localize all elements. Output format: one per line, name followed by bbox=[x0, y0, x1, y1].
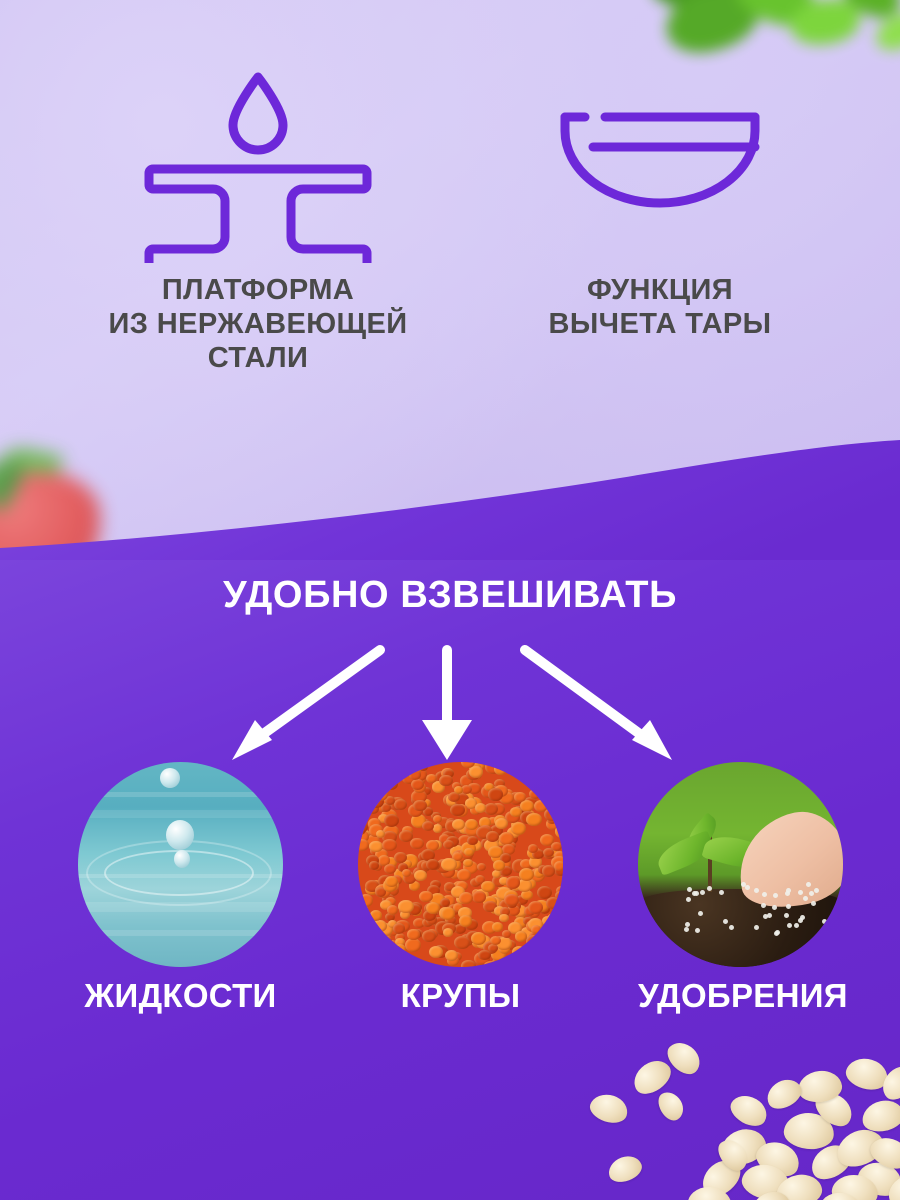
arrow-left-line bbox=[255, 650, 380, 740]
category-label-liquids: ЖИДКОСТИ bbox=[78, 977, 283, 1015]
page-headline: УДОБНО ВЗВЕШИВАТЬ bbox=[0, 574, 900, 617]
feature-stainless-platform: ПЛАТФОРМА ИЗ НЕРЖАВЕЮЩЕЙ СТАЛИ bbox=[48, 58, 468, 376]
feature-tare-function: ФУНКЦИЯ ВЫЧЕТА ТАРЫ bbox=[470, 58, 850, 342]
oat-flakes-decoration bbox=[570, 1035, 900, 1200]
category-circles-row: ЖИДКОСТИ КРУПЫ УДОБРЕНИЯ bbox=[0, 762, 900, 972]
arrow-center-head bbox=[422, 720, 472, 760]
arrows-group bbox=[0, 628, 900, 778]
water-drop-splash-photo bbox=[78, 762, 283, 967]
promo-canvas: ПЛАТФОРМА ИЗ НЕРЖАВЕЮЩЕЙ СТАЛИ ФУНКЦИЯ В… bbox=[0, 0, 900, 1200]
category-grains[interactable]: КРУПЫ bbox=[358, 762, 563, 967]
arrow-right-head bbox=[632, 720, 672, 760]
feature-label-tare-function: ФУНКЦИЯ ВЫЧЕТА ТАРЫ bbox=[470, 274, 850, 342]
water-drop-on-steel-beam-icon bbox=[48, 58, 468, 268]
red-lentils-photo bbox=[358, 762, 563, 967]
category-label-fertilizers: УДОБРЕНИЯ bbox=[638, 977, 843, 1015]
arrow-right-line bbox=[525, 650, 648, 740]
bowl-tare-icon bbox=[470, 58, 850, 268]
feature-icons-row: ПЛАТФОРМА ИЗ НЕРЖАВЕЮЩЕЙ СТАЛИ ФУНКЦИЯ В… bbox=[0, 58, 900, 398]
hand-fertilizing-seedling-photo bbox=[638, 762, 843, 967]
category-liquids[interactable]: ЖИДКОСТИ bbox=[78, 762, 283, 967]
category-fertilizers[interactable]: УДОБРЕНИЯ bbox=[638, 762, 843, 967]
feature-label-stainless-platform: ПЛАТФОРМА ИЗ НЕРЖАВЕЮЩЕЙ СТАЛИ bbox=[48, 274, 468, 376]
category-label-grains: КРУПЫ bbox=[358, 977, 563, 1015]
